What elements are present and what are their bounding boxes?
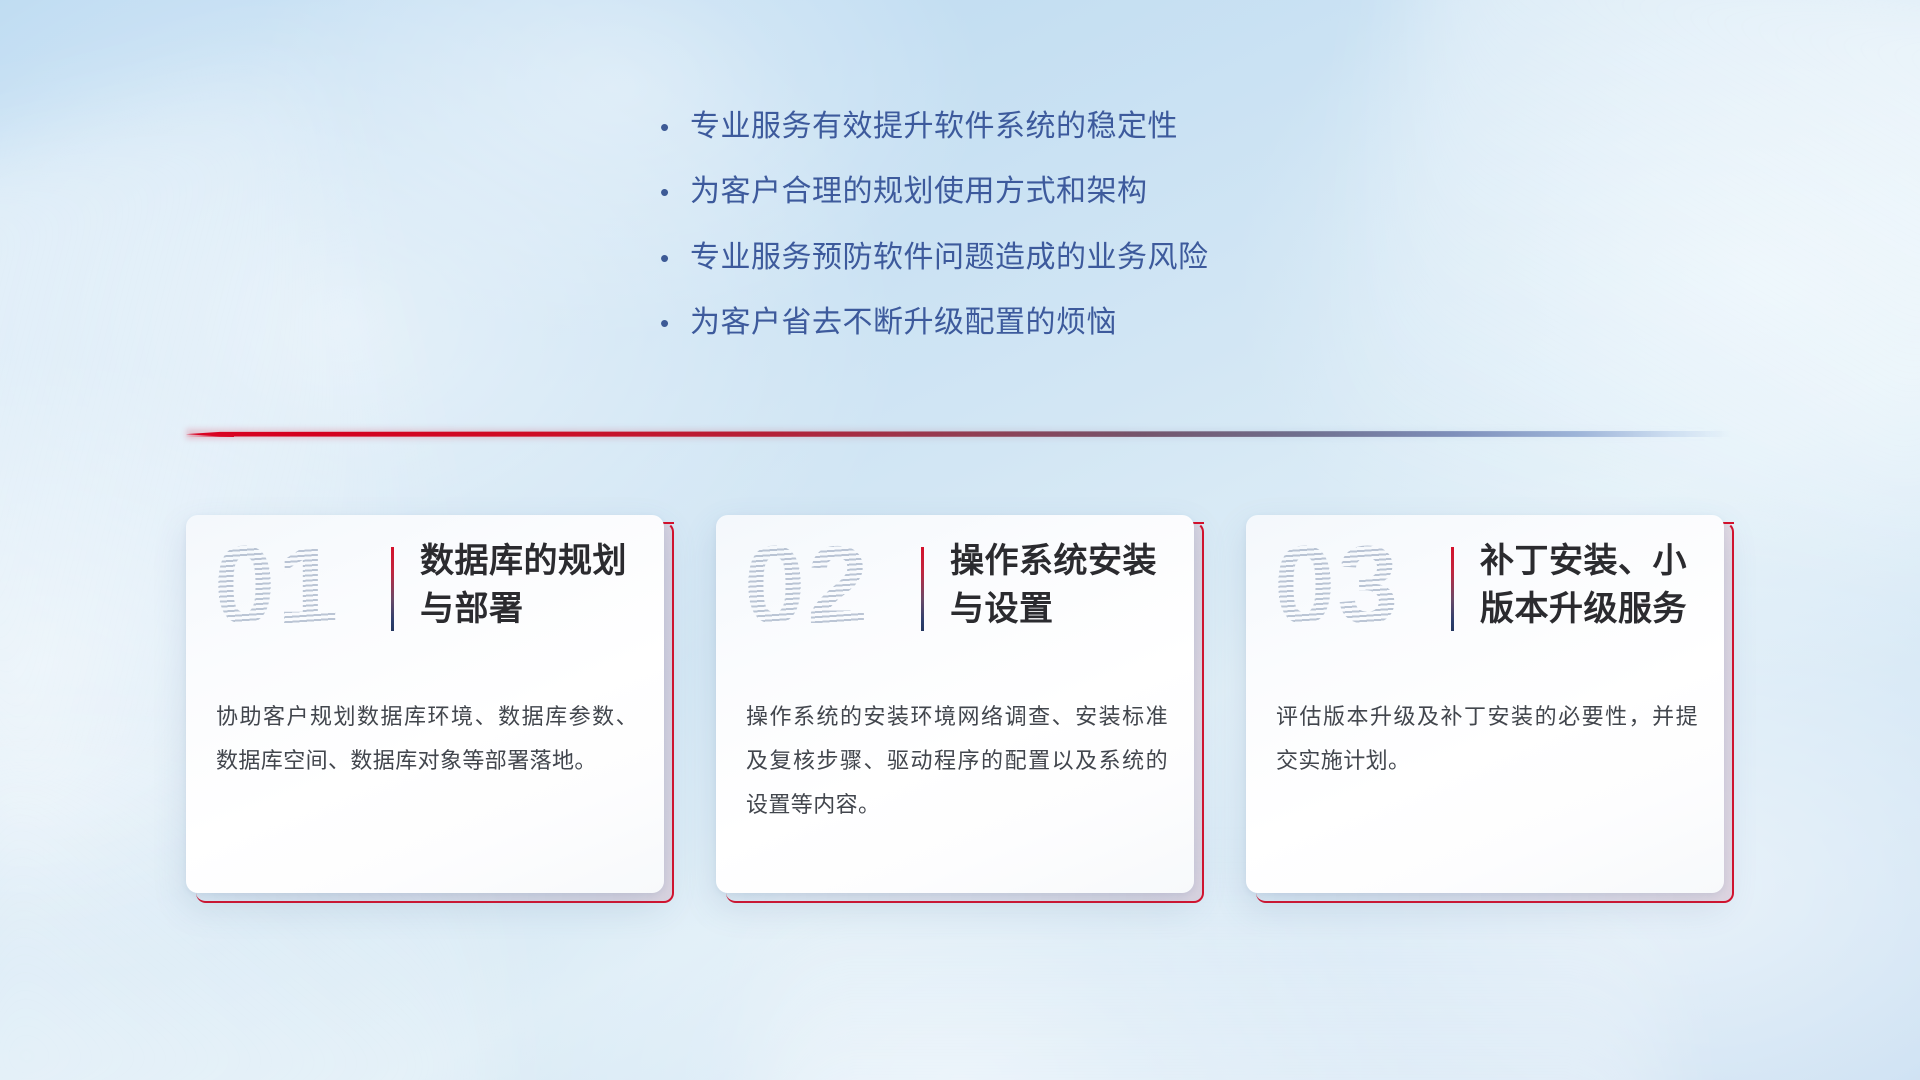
bullet-text: 为客户合理的规划使用方式和架构 — [690, 173, 1148, 211]
divider-line — [186, 431, 1731, 437]
card-number: 03 — [1274, 531, 1400, 641]
service-card-02[interactable]: 02 操作系统安装与设置 操作系统的安装环境网络调查、安装标准及复核步骤、驱动程… — [716, 515, 1204, 903]
card-surface: 01 数据库的规划与部署 协助客户规划数据库环境、数据库参数、数据库空间、数据库… — [186, 515, 664, 893]
card-number: 02 — [744, 531, 870, 641]
service-card-03[interactable]: 03 补丁安装、小版本升级服务 评估版本升级及补丁安装的必要性，并提交实施计划。 — [1246, 515, 1734, 903]
slide-canvas: • 专业服务有效提升软件系统的稳定性 • 为客户合理的规划使用方式和架构 • 专… — [0, 0, 1920, 1080]
card-title-rule — [921, 547, 924, 631]
card-title: 数据库的规划与部署 — [420, 537, 646, 634]
divider-tip — [186, 434, 234, 437]
card-description: 协助客户规划数据库环境、数据库参数、数据库空间、数据库对象等部署落地。 — [216, 695, 638, 783]
card-header: 02 操作系统安装与设置 — [716, 515, 1194, 691]
bullet-text: 专业服务预防软件问题造成的业务风险 — [690, 239, 1209, 277]
bullet-dot-icon: • — [660, 310, 690, 336]
card-surface: 02 操作系统安装与设置 操作系统的安装环境网络调查、安装标准及复核步骤、驱动程… — [716, 515, 1194, 893]
list-item: • 为客户合理的规划使用方式和架构 — [660, 173, 1560, 211]
bullet-dot-icon: • — [660, 179, 690, 205]
card-surface: 03 补丁安装、小版本升级服务 评估版本升级及补丁安装的必要性，并提交实施计划。 — [1246, 515, 1724, 893]
bullet-dot-icon: • — [660, 114, 690, 140]
bullet-text: 为客户省去不断升级配置的烦恼 — [690, 304, 1117, 342]
card-number: 01 — [214, 531, 340, 641]
card-description: 评估版本升级及补丁安装的必要性，并提交实施计划。 — [1276, 695, 1698, 783]
card-header: 01 数据库的规划与部署 — [186, 515, 664, 691]
bullet-text: 专业服务有效提升软件系统的稳定性 — [690, 108, 1178, 146]
section-divider — [186, 425, 1731, 443]
card-description: 操作系统的安装环境网络调查、安装标准及复核步骤、驱动程序的配置以及系统的设置等内… — [746, 695, 1168, 827]
bullet-dot-icon: • — [660, 245, 690, 271]
card-title: 操作系统安装与设置 — [950, 537, 1176, 634]
list-item: • 为客户省去不断升级配置的烦恼 — [660, 304, 1560, 342]
benefits-bullet-list: • 专业服务有效提升软件系统的稳定性 • 为客户合理的规划使用方式和架构 • 专… — [660, 108, 1560, 370]
card-title-rule — [1451, 547, 1454, 631]
service-card-01[interactable]: 01 数据库的规划与部署 协助客户规划数据库环境、数据库参数、数据库空间、数据库… — [186, 515, 674, 903]
card-header: 03 补丁安装、小版本升级服务 — [1246, 515, 1724, 691]
card-title: 补丁安装、小版本升级服务 — [1480, 537, 1706, 634]
list-item: • 专业服务预防软件问题造成的业务风险 — [660, 239, 1560, 277]
card-title-rule — [391, 547, 394, 631]
list-item: • 专业服务有效提升软件系统的稳定性 — [660, 108, 1560, 146]
service-card-row: 01 数据库的规划与部署 协助客户规划数据库环境、数据库参数、数据库空间、数据库… — [186, 515, 1734, 915]
